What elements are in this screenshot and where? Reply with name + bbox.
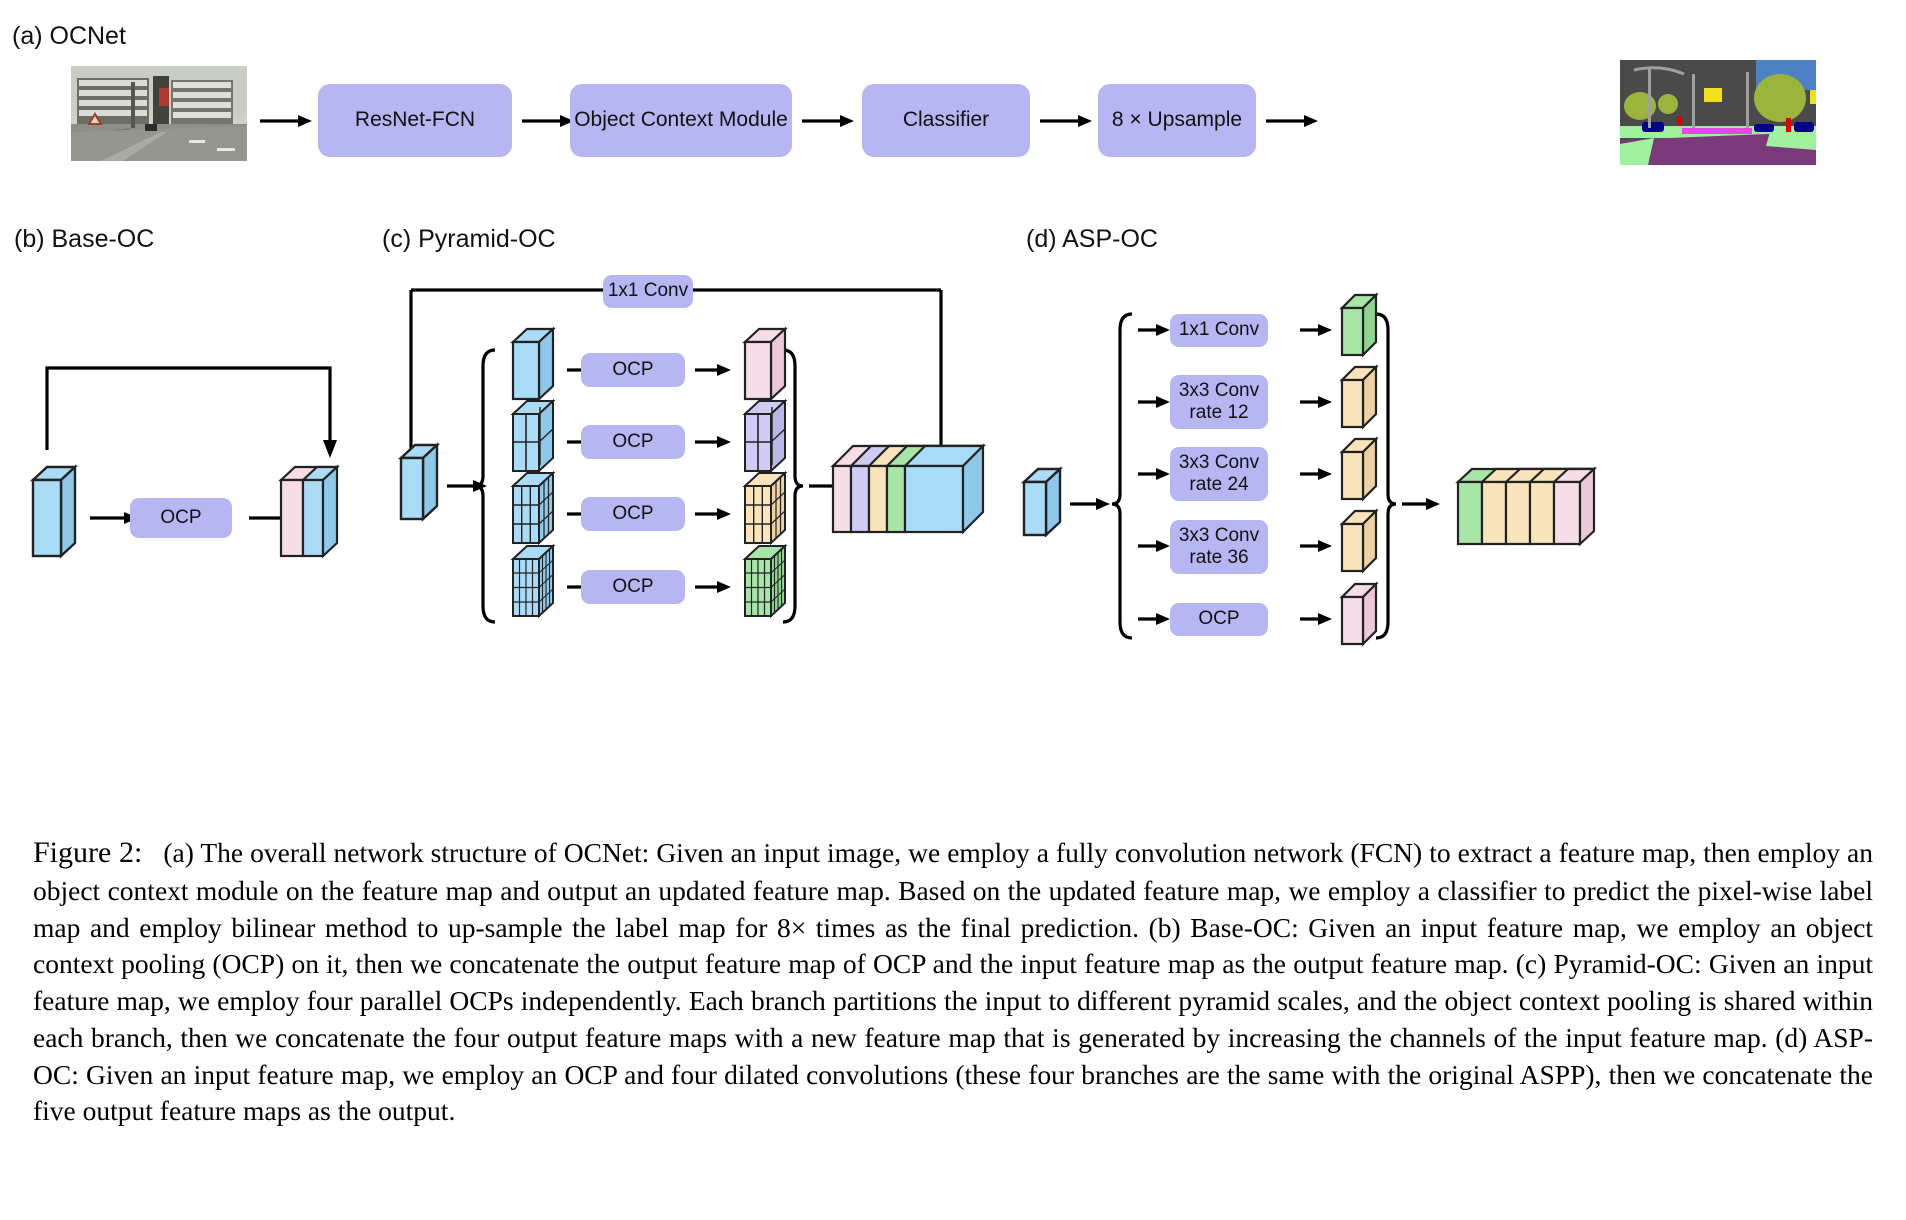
pyramid-branch-3-input-cube	[513, 473, 553, 543]
base-oc-ocp-label: OCP	[160, 507, 201, 529]
panel-label-a: (a) OCNet	[12, 22, 126, 51]
pyramid-branch-1-output-cube	[745, 329, 785, 399]
pyramid-branch-2-output-cube	[745, 401, 785, 471]
stage-resnet-fcn-label: ResNet-FCN	[355, 108, 475, 133]
asp-oc-module-ocp-label: OCP	[1198, 608, 1239, 630]
asp-oc-module-3x3-rate12-line1: 3x3 Conv	[1179, 380, 1259, 402]
pyramid-oc-ocp-label-1: OCP	[612, 359, 653, 381]
asp-oc-module-3x3-rate24-line1: 3x3 Conv	[1179, 452, 1259, 474]
stage-upsample[interactable]: 8 × Upsample	[1098, 84, 1256, 157]
stage-resnet-fcn[interactable]: ResNet-FCN	[318, 84, 512, 157]
asp-oc-branch-1-output-cube	[1342, 295, 1376, 355]
panel-label-b: (b) Base-OC	[14, 225, 154, 254]
pyramid-oc-ocp-module-2[interactable]: OCP	[581, 425, 685, 459]
stage-object-context-module-label: Object Context Module	[574, 108, 788, 133]
pyramid-branch-3-output-cube	[745, 473, 785, 543]
figure-caption-text: (a) The overall network structure of OCN…	[33, 837, 1873, 1126]
asp-oc-input-cube	[1024, 469, 1060, 535]
asp-oc-module-3x3-rate36[interactable]: 3x3 Conv rate 36	[1170, 520, 1268, 574]
panel-label-d: (d) ASP-OC	[1026, 225, 1158, 254]
pyramid-branch-4-input-cube	[513, 546, 553, 616]
stage-classifier[interactable]: Classifier	[862, 84, 1030, 157]
base-oc-diagram	[0, 330, 400, 620]
asp-oc-module-1x1-conv-label: 1x1 Conv	[1179, 319, 1259, 341]
pyramid-oc-1x1-conv-module[interactable]: 1x1 Conv	[603, 275, 693, 308]
stage-classifier-label: Classifier	[903, 108, 989, 133]
asp-oc-output-cube	[1458, 469, 1594, 544]
base-oc-ocp-module[interactable]: OCP	[130, 498, 232, 538]
pyramid-oc-ocp-module-1[interactable]: OCP	[581, 353, 685, 387]
pyramid-oc-ocp-label-2: OCP	[612, 431, 653, 453]
asp-oc-diagram	[1010, 290, 1890, 660]
input-image-photo	[71, 66, 247, 161]
arrow-resnet-to-ocm	[520, 110, 576, 132]
stage-object-context-module[interactable]: Object Context Module	[570, 84, 792, 157]
asp-oc-module-3x3-rate24-line2: rate 24	[1189, 474, 1248, 496]
pyramid-oc-ocp-label-3: OCP	[612, 503, 653, 525]
asp-oc-module-ocp[interactable]: OCP	[1170, 603, 1268, 636]
base-oc-output-cube	[281, 467, 337, 556]
pyramid-oc-ocp-module-3[interactable]: OCP	[581, 497, 685, 531]
pyramid-oc-ocp-module-4[interactable]: OCP	[581, 570, 685, 604]
stage-upsample-label: 8 × Upsample	[1112, 108, 1242, 133]
figure-number: Figure 2:	[33, 836, 142, 869]
asp-oc-module-3x3-rate12-line2: rate 12	[1189, 402, 1248, 424]
arrow-photo-to-resnet	[258, 110, 314, 132]
output-segmentation-map	[1620, 60, 1906, 165]
pyramid-oc-1x1-conv-label: 1x1 Conv	[608, 280, 688, 302]
panel-label-c: (c) Pyramid-OC	[382, 225, 556, 254]
pyramid-oc-input-cube	[401, 445, 437, 519]
pyramid-oc-output-cube	[833, 446, 983, 532]
asp-oc-branch-4-output-cube	[1342, 511, 1376, 571]
pyramid-branch-4-output-cube	[745, 546, 785, 616]
asp-oc-branch-2-output-cube	[1342, 367, 1376, 427]
figure-caption: Figure 2: (a) The overall network struct…	[33, 833, 1873, 1130]
figure-2: (a) OCNet	[0, 0, 1906, 1220]
pyramid-oc-diagram	[395, 270, 1015, 650]
base-oc-input-cube	[33, 467, 75, 556]
arrow-ocm-to-classifier	[800, 110, 856, 132]
arrow-classifier-to-upsample	[1038, 110, 1094, 132]
pyramid-branch-1-input-cube	[513, 329, 553, 399]
asp-oc-module-3x3-rate36-line1: 3x3 Conv	[1179, 525, 1259, 547]
pyramid-branch-2-input-cube	[513, 401, 553, 471]
asp-oc-module-3x3-rate12[interactable]: 3x3 Conv rate 12	[1170, 375, 1268, 429]
asp-oc-branch-5-output-cube	[1342, 584, 1376, 644]
arrow-upsample-to-output	[1264, 110, 1320, 132]
asp-oc-module-1x1-conv[interactable]: 1x1 Conv	[1170, 314, 1268, 347]
asp-oc-branch-3-output-cube	[1342, 439, 1376, 499]
asp-oc-module-3x3-rate36-line2: rate 36	[1189, 547, 1248, 569]
pyramid-oc-ocp-label-4: OCP	[612, 576, 653, 598]
asp-oc-module-3x3-rate24[interactable]: 3x3 Conv rate 24	[1170, 447, 1268, 501]
